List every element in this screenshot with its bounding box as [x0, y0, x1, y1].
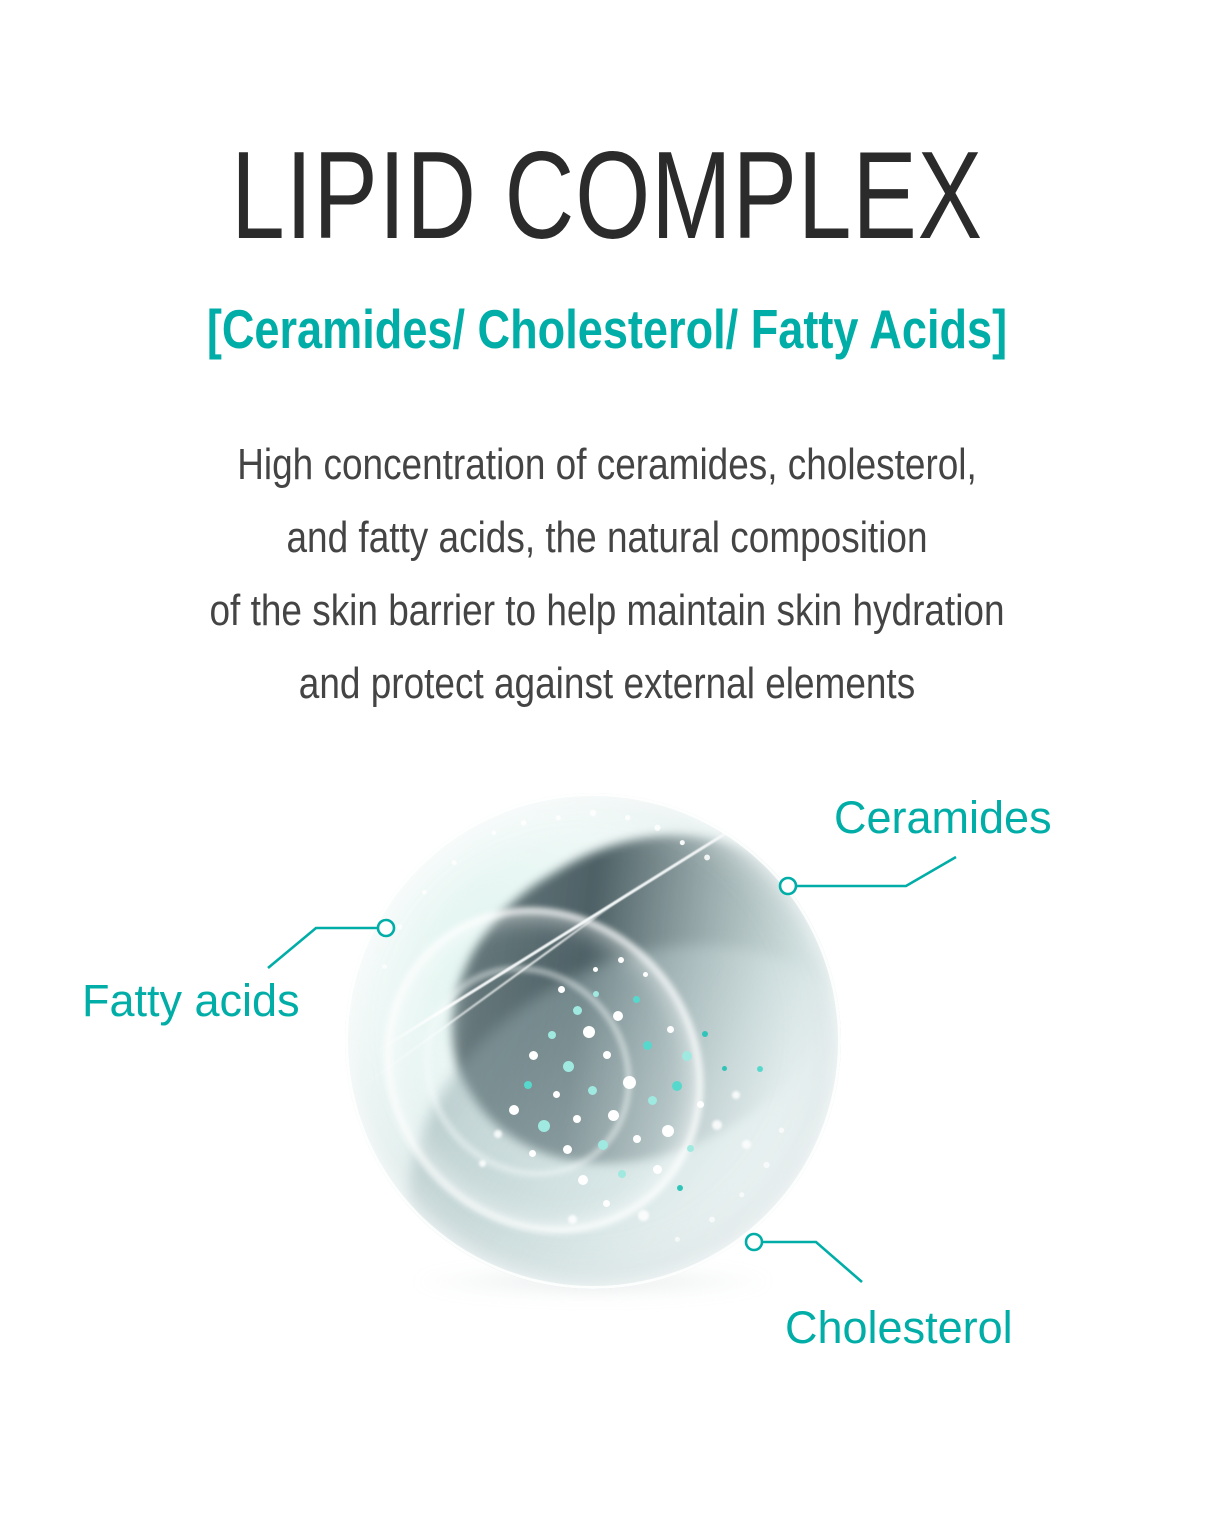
- callout-label-cholesterol: Cholesterol: [785, 1305, 1013, 1350]
- page-subtitle: [Ceramides/ Cholesterol/ Fatty Acids]: [109, 302, 1104, 357]
- leader-path-fatty-acids: [268, 928, 378, 968]
- leader-line-ceramides: [778, 845, 998, 905]
- callout-label-fatty-acids: Fatty acids: [82, 978, 300, 1023]
- description-line: and protect against external elements: [97, 647, 1117, 720]
- product-image: [345, 793, 841, 1289]
- description-line: High concentration of ceramides, cholest…: [97, 428, 1117, 501]
- callout-label-ceramides: Ceramides: [834, 795, 1052, 840]
- leader-path-cholesterol: [762, 1242, 862, 1282]
- leader-dot-fatty-acids: [378, 920, 394, 936]
- leader-dot-ceramides: [780, 878, 796, 894]
- leader-line-cholesterol: [742, 1230, 882, 1300]
- description-line: and fatty acids, the natural composition: [97, 501, 1117, 574]
- lipid-capsule-sphere: [345, 793, 841, 1289]
- description-paragraph: High concentration of ceramides, cholest…: [97, 428, 1117, 720]
- leader-dot-cholesterol: [746, 1234, 762, 1250]
- glass-rim-highlight: [345, 793, 841, 1289]
- leader-line-fatty-acids: [258, 912, 398, 984]
- description-line: of the skin barrier to help maintain ski…: [97, 574, 1117, 647]
- page-title: LIPID COMPLEX: [134, 134, 1081, 258]
- leader-path-ceramides: [796, 857, 956, 886]
- infographic-page: LIPID COMPLEX [Ceramides/ Cholesterol/ F…: [0, 0, 1214, 1517]
